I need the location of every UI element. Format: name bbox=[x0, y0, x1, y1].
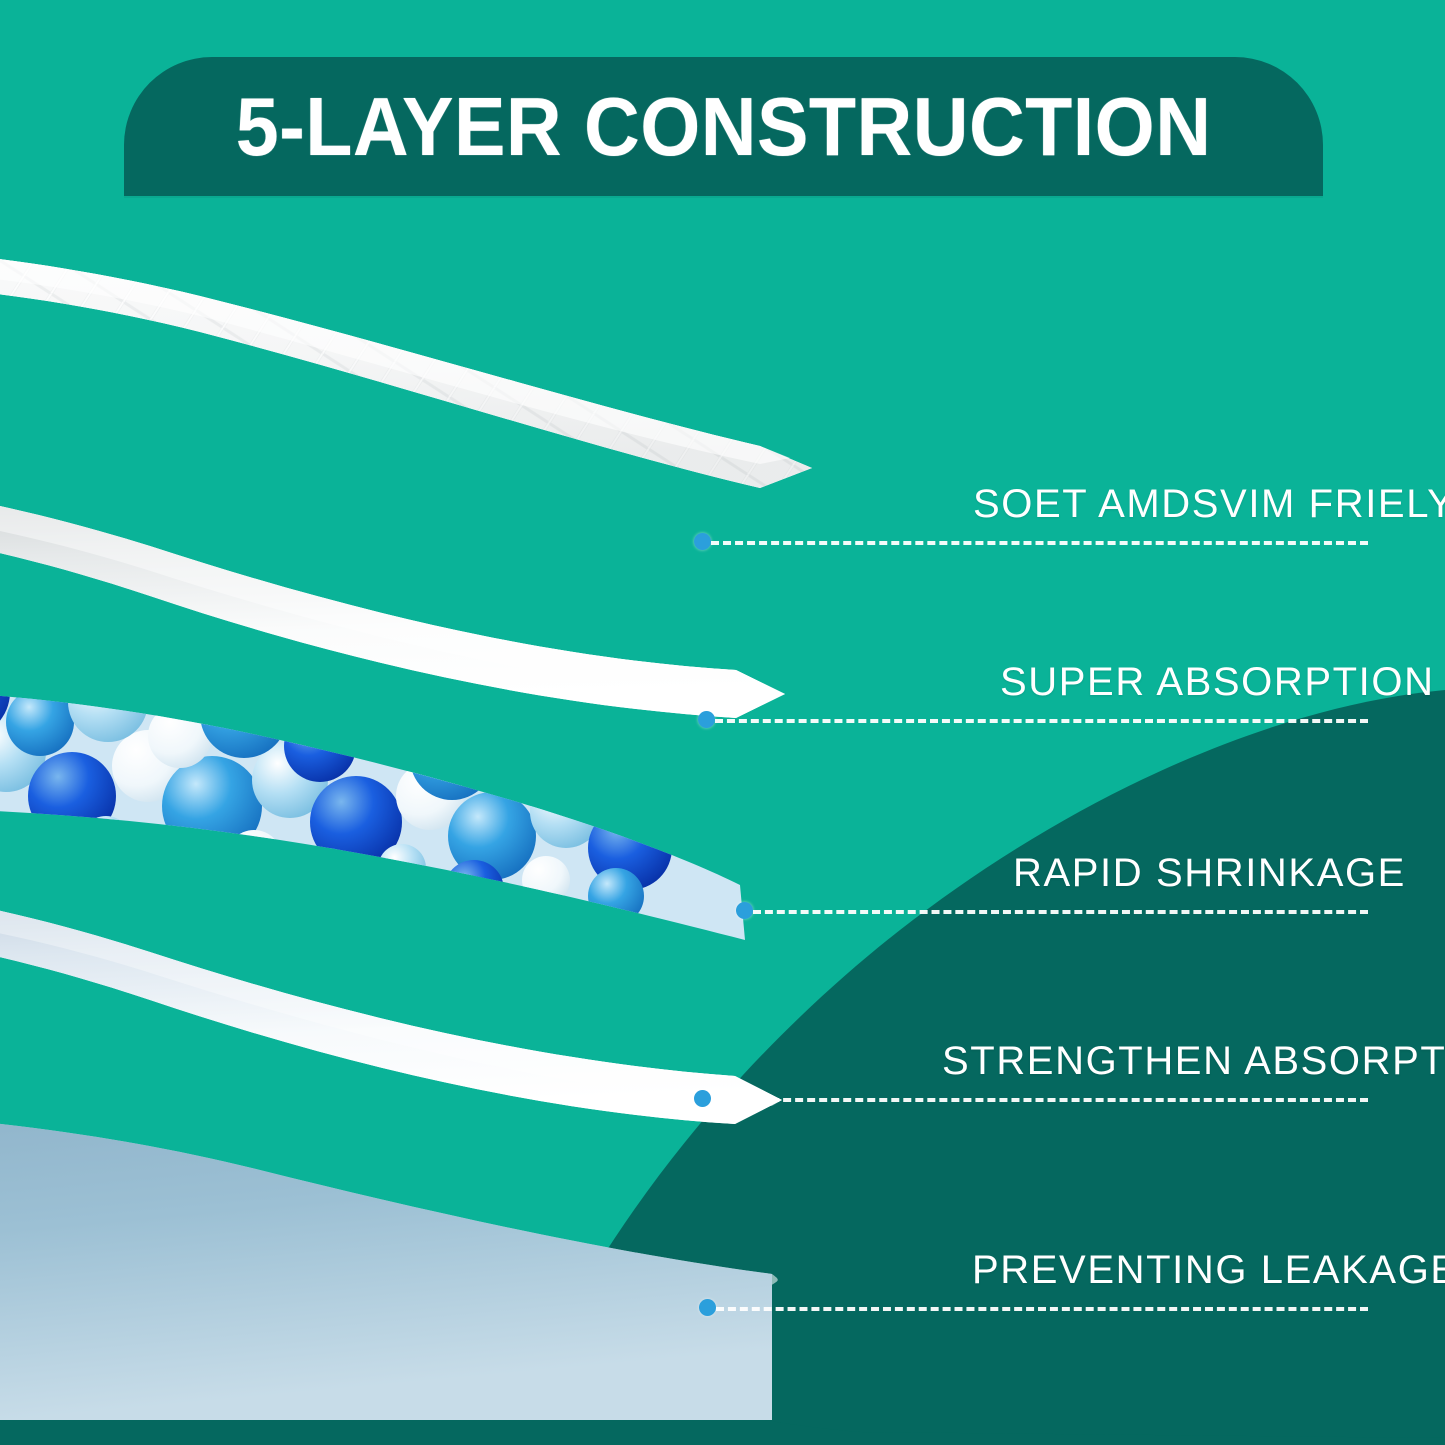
callout-dot-icon bbox=[736, 902, 753, 919]
callout-leader-line bbox=[711, 541, 1368, 545]
callout-label-layer-5: PREVENTING LEAKAGE bbox=[972, 1248, 1445, 1293]
callout-leader-line bbox=[753, 910, 1368, 914]
layer-absorbent-sheet bbox=[0, 475, 785, 718]
callout-dot-icon bbox=[698, 711, 715, 728]
callout-dot-icon bbox=[699, 1299, 716, 1316]
layer-backsheet bbox=[0, 1111, 778, 1420]
callout-label-layer-4: STRENGTHEN ABSORPTION bbox=[942, 1039, 1445, 1084]
callout-leader-line bbox=[715, 719, 1368, 723]
callout-dot-icon bbox=[694, 533, 711, 550]
callout-label-layer-3: RAPID SHRINKAGE bbox=[1013, 851, 1406, 896]
layer-stack-illustration bbox=[0, 240, 940, 1420]
layer-top-sheet bbox=[0, 246, 812, 488]
infographic-canvas: 5-LAYER CONSTRUCTION bbox=[0, 0, 1445, 1445]
page-title: 5-LAYER CONSTRUCTION bbox=[236, 85, 1212, 168]
callout-label-layer-1: SOET AMDSVIM FRIELY bbox=[973, 482, 1445, 527]
callout-dot-icon bbox=[694, 1090, 711, 1107]
callout-label-layer-2: SUPER ABSORPTION bbox=[1000, 660, 1435, 705]
callout-leader-line bbox=[711, 1098, 1368, 1102]
title-banner: 5-LAYER CONSTRUCTION bbox=[124, 57, 1323, 196]
callout-leader-line bbox=[716, 1307, 1368, 1311]
